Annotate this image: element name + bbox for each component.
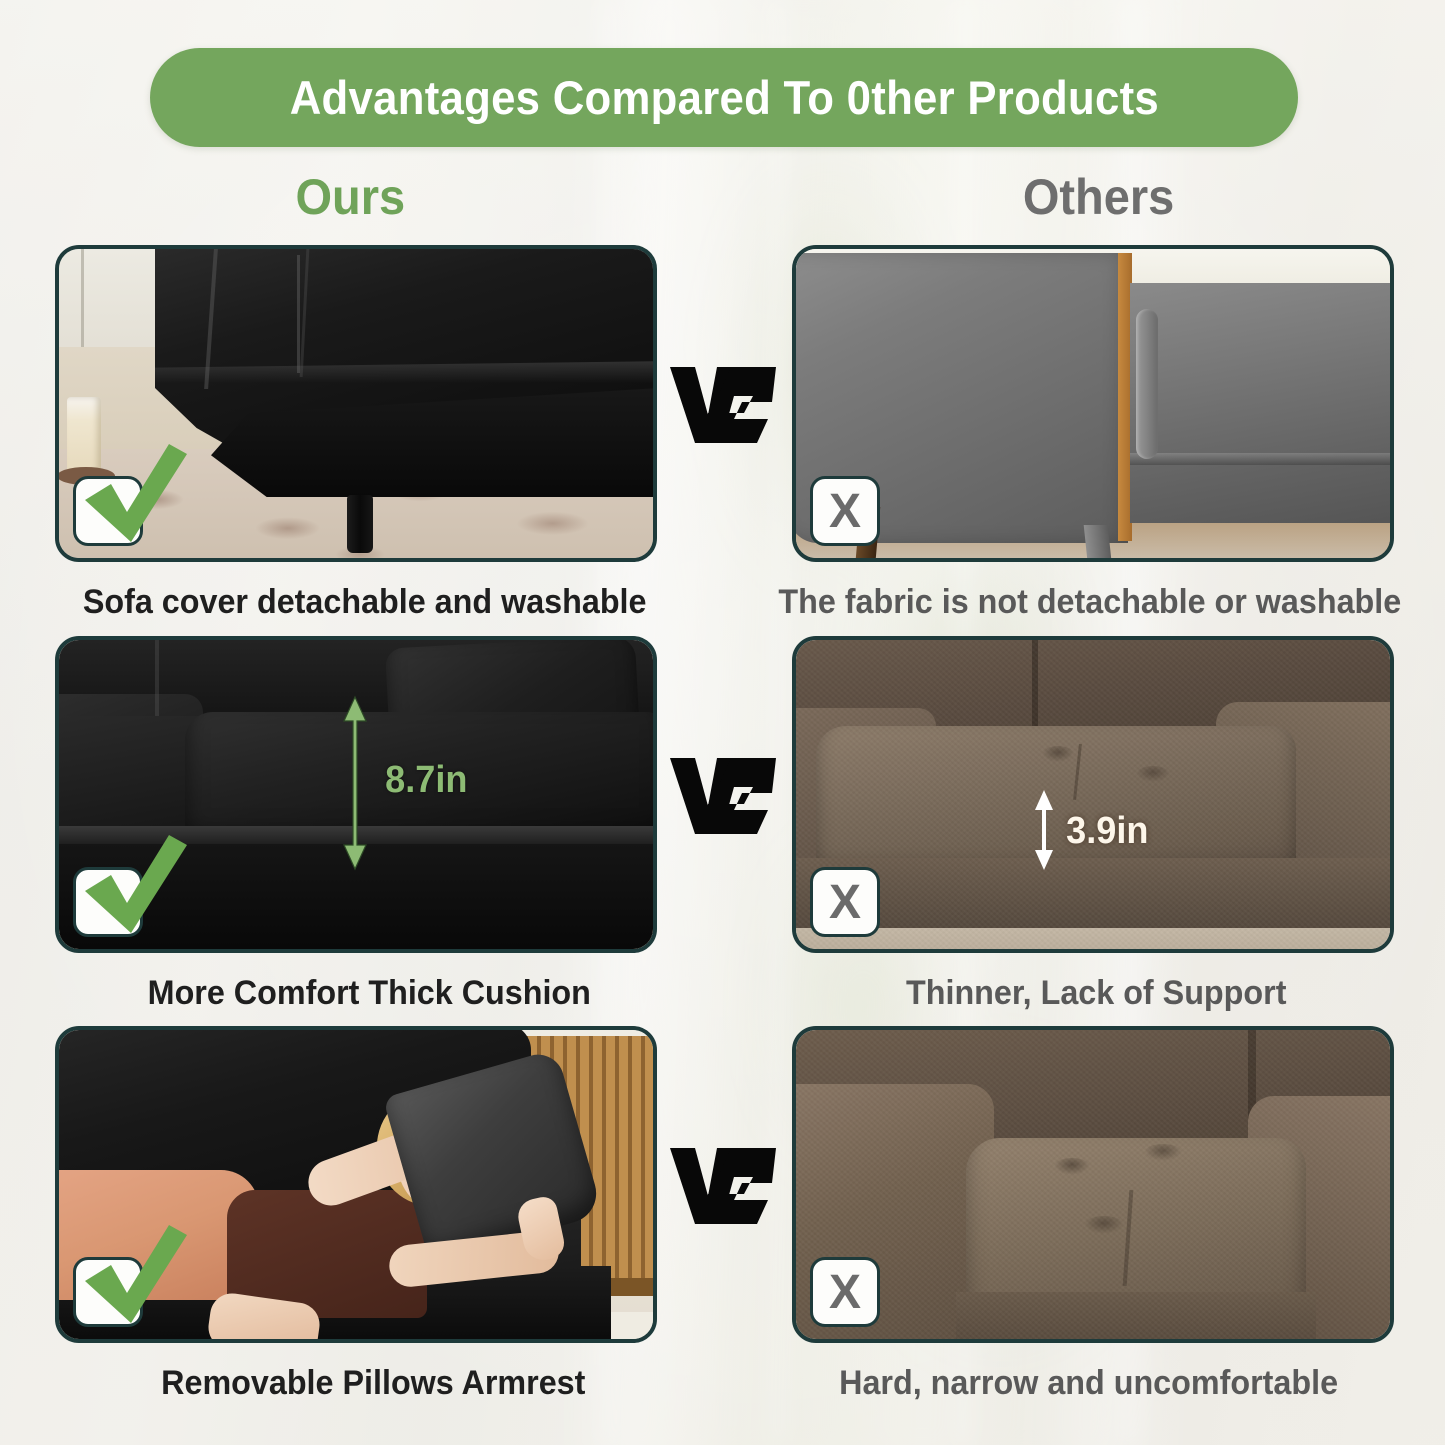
dimension-label-ours: 8.7in xyxy=(385,759,467,802)
x-icon: X xyxy=(813,479,877,543)
caption-others-2: Thinner, Lack of Support xyxy=(906,974,1286,1013)
check-badge-box xyxy=(73,867,143,937)
ours-photo-panel-3 xyxy=(55,1026,657,1343)
column-header-others: Others xyxy=(1023,168,1175,226)
caption-others-3: Hard, narrow and uncomfortable xyxy=(839,1364,1338,1403)
dimension-callout-others: 3.9in xyxy=(1032,788,1151,872)
vs-icon xyxy=(669,1144,777,1226)
x-badge-box: X xyxy=(810,476,880,546)
others-photo-panel-1: X xyxy=(792,245,1394,562)
others-photo-panel-3: X xyxy=(792,1026,1394,1343)
ours-photo-panel-1 xyxy=(55,245,657,562)
title-banner: Advantages Compared To 0ther Products xyxy=(150,48,1298,147)
x-icon: X xyxy=(813,870,877,934)
comparison-infographic: Advantages Compared To 0ther Products Ou… xyxy=(0,0,1445,1445)
others-photo-panel-2: 3.9in X xyxy=(792,636,1394,953)
double-arrow-icon xyxy=(1032,788,1056,872)
column-header-ours: Ours xyxy=(296,168,406,226)
x-badge-box: X xyxy=(810,1257,880,1327)
dimension-label-others: 3.9in xyxy=(1066,810,1148,853)
photo-sofa-seat xyxy=(1130,283,1390,523)
photo-fabric-texture xyxy=(796,1030,1390,1339)
ours-photo-panel-2: 8.7in xyxy=(55,636,657,953)
page-title: Advantages Compared To 0ther Products xyxy=(289,70,1158,125)
caption-ours-3: Removable Pillows Armrest xyxy=(161,1364,585,1403)
photo-glass xyxy=(67,397,101,475)
photo-metal-leg xyxy=(1084,525,1113,558)
vs-icon xyxy=(669,754,777,836)
caption-ours-1: Sofa cover detachable and washable xyxy=(83,583,647,622)
x-icon: X xyxy=(813,1260,877,1324)
x-badge-box: X xyxy=(810,867,880,937)
photo-piping xyxy=(1136,309,1158,459)
photo-grey-fixed-sofa xyxy=(796,249,1390,558)
double-arrow-icon xyxy=(341,695,369,871)
check-badge-box xyxy=(73,476,143,546)
dimension-callout-ours: 8.7in xyxy=(341,695,470,871)
check-badge-box xyxy=(73,1257,143,1327)
photo-cushion-gap xyxy=(155,640,159,716)
photo-black-slipcovered-sofa xyxy=(59,249,653,558)
caption-ours-2: More Comfort Thick Cushion xyxy=(148,974,591,1013)
photo-hard-narrow-armrest xyxy=(796,1030,1390,1339)
vs-icon xyxy=(669,363,777,445)
caption-others-1: The fabric is not detachable or washable xyxy=(778,583,1401,622)
photo-sofa-leg xyxy=(347,495,373,553)
photo-fabric-seam xyxy=(297,255,300,373)
photo-woman-on-pillow-armrest xyxy=(59,1030,653,1339)
